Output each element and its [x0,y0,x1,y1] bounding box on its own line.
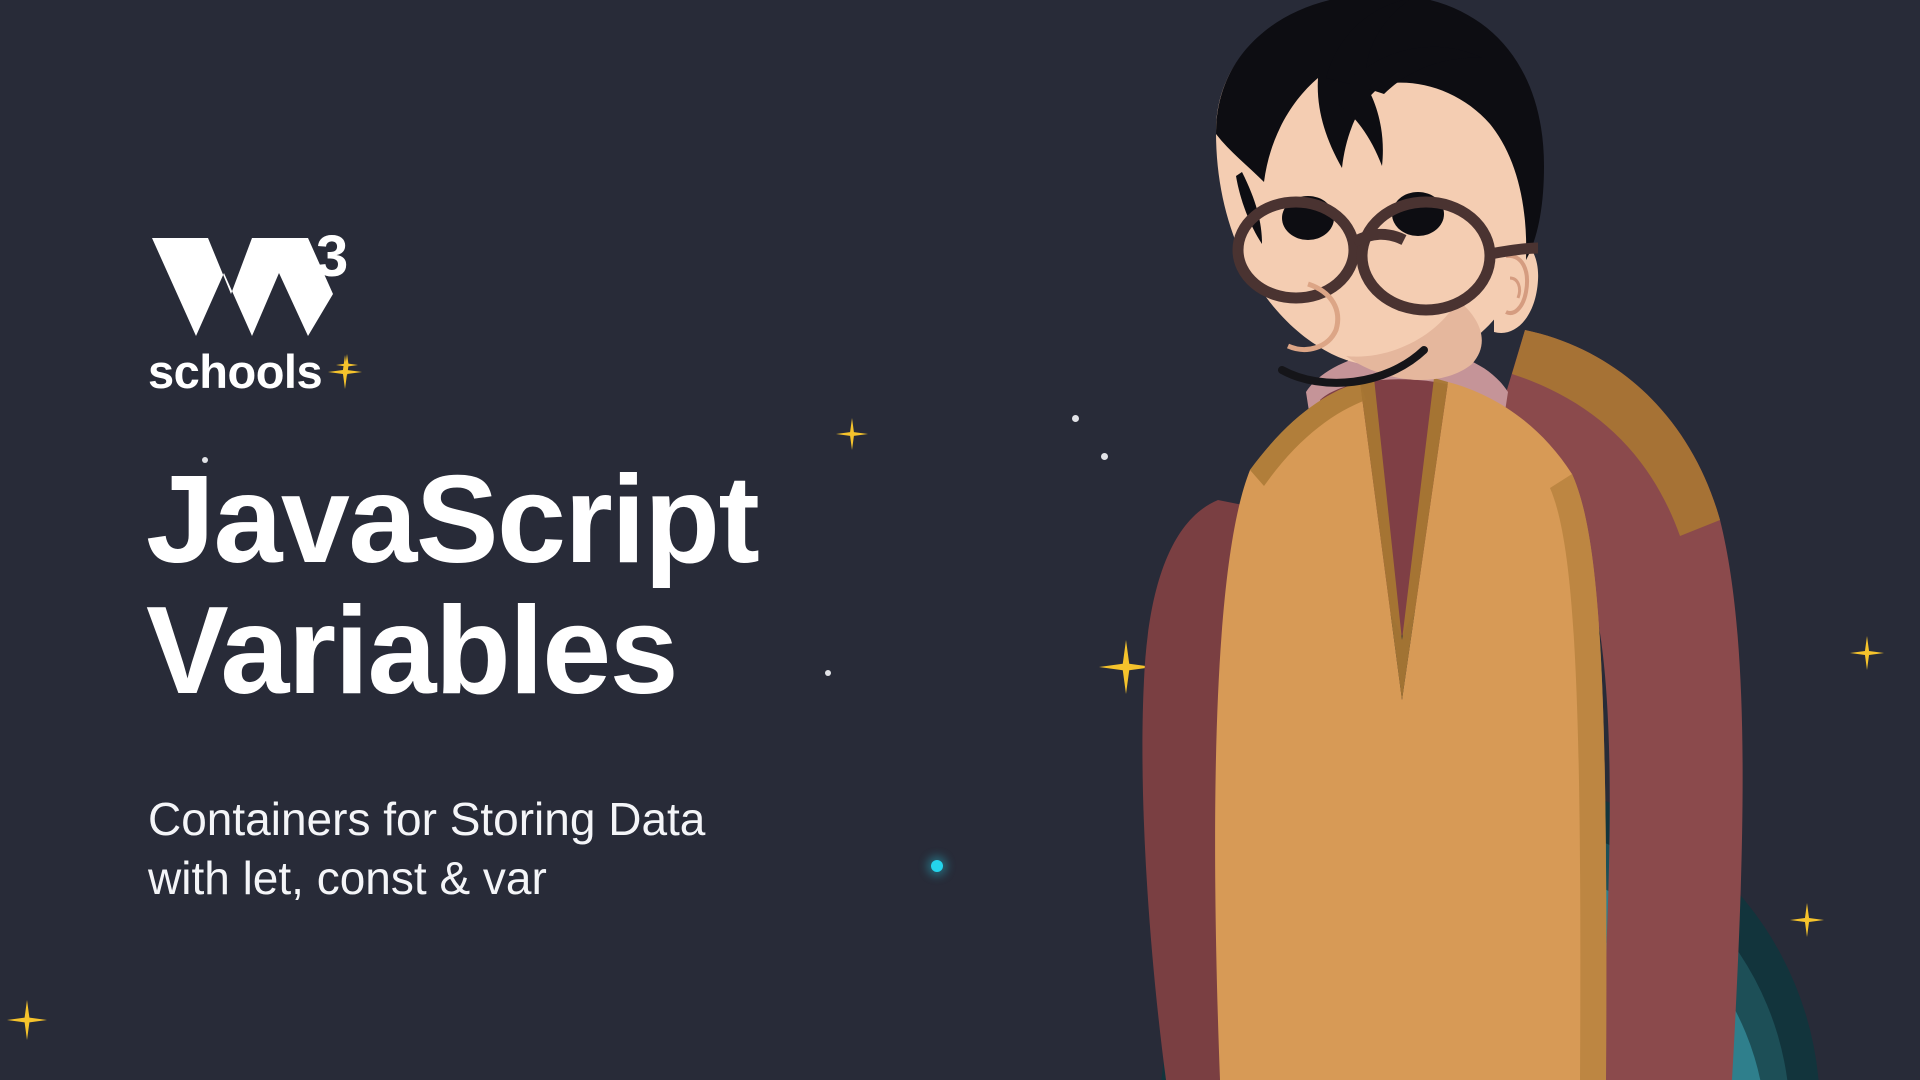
w3-logo-mark: 3 [148,232,348,332]
brand-logo: 3 schools [148,232,568,395]
brand-wordmark: schools [148,348,322,395]
sparkle-icon [7,1000,47,1040]
accent-glow-dot [931,860,943,872]
svg-text:3: 3 [316,232,348,289]
page-title: JavaScript Variables [146,455,758,718]
sparkle-icon [836,418,868,450]
page-subtitle: Containers for Storing Data with let, co… [148,790,705,908]
hero-illustration [1020,0,1920,1080]
slide-canvas: 3 schools JavaScript Variables Container… [0,0,1920,1080]
sparkle-icon [336,354,358,381]
star-dot [825,670,831,676]
